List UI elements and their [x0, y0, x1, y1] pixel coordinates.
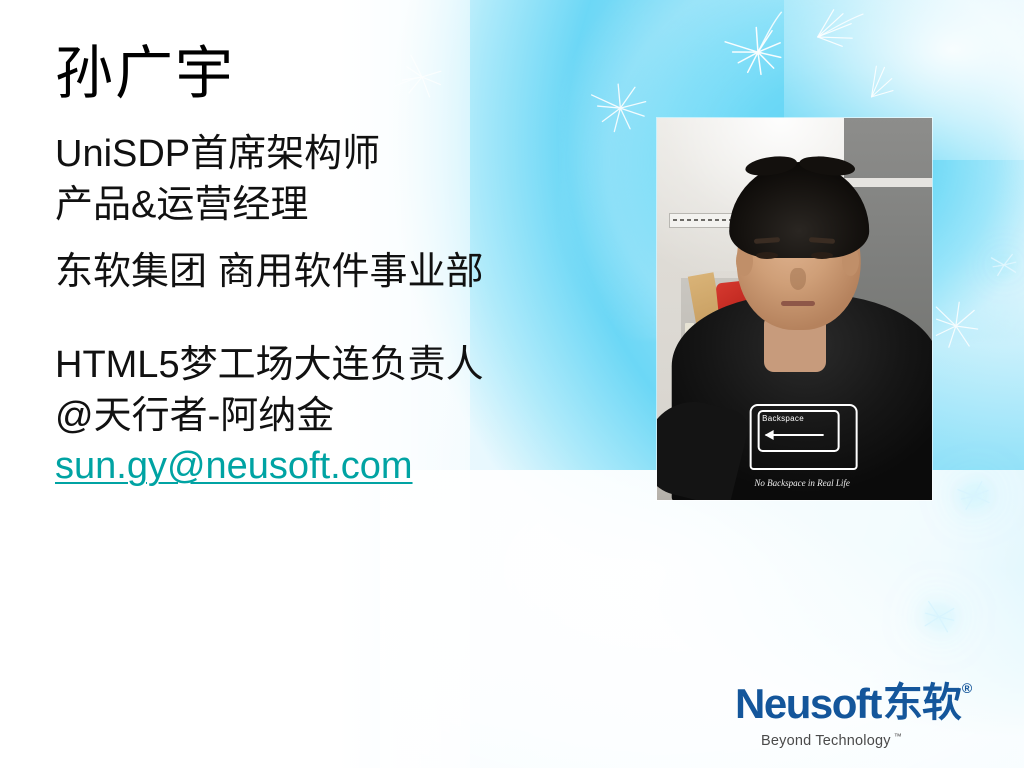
trademark-icon: ™	[894, 732, 902, 741]
tshirt-tagline: No Backspace in Real Life	[754, 478, 849, 488]
photo-person-eye	[811, 252, 833, 259]
role-line-2: 产品&运营经理	[55, 180, 645, 231]
tshirt-key-label: Backspace	[762, 414, 804, 423]
photo-panel-rail	[844, 178, 932, 187]
spacer	[55, 298, 645, 340]
organization-line: 东软集团 商用软件事业部	[55, 247, 645, 298]
community-role-line: HTML5梦工场大连负责人	[55, 340, 645, 391]
logo-wordmark-row: Neusoft 东软 ®	[735, 683, 995, 725]
registered-trademark-icon: ®	[962, 681, 972, 695]
neusoft-logo: Neusoft 东软 ® Beyond Technology™	[735, 683, 995, 749]
logo-wordmark-chinese: 东软	[883, 683, 961, 723]
presentation-slide: Backspace No Backspace in Real Life 孙广宇 …	[0, 0, 1024, 768]
page-title: 孙广宇	[55, 42, 645, 107]
tshirt-backspace-key-graphic: Backspace	[749, 404, 857, 470]
photo-person-arm	[657, 392, 751, 500]
photo-person-mouth	[781, 301, 815, 306]
spacer	[55, 231, 645, 247]
speaker-photo: Backspace No Backspace in Real Life	[657, 118, 932, 500]
logo-tagline-text: Beyond Technology	[761, 733, 891, 749]
logo-tagline: Beyond Technology™	[761, 732, 995, 749]
backspace-arrow-icon	[765, 434, 823, 436]
social-handle-line: @天行者-阿纳金	[55, 391, 645, 442]
logo-wordmark-latin: Neusoft	[735, 683, 881, 725]
slide-text-content: 孙广宇 UniSDP首席架构师 产品&运营经理 东软集团 商用软件事业部 HTM…	[55, 42, 645, 492]
photo-person-nose	[790, 268, 806, 290]
role-line-1: UniSDP首席架构师	[55, 129, 645, 180]
photo-person-eye	[756, 252, 778, 259]
email-link[interactable]: sun.gy@neusoft.com	[55, 441, 413, 492]
